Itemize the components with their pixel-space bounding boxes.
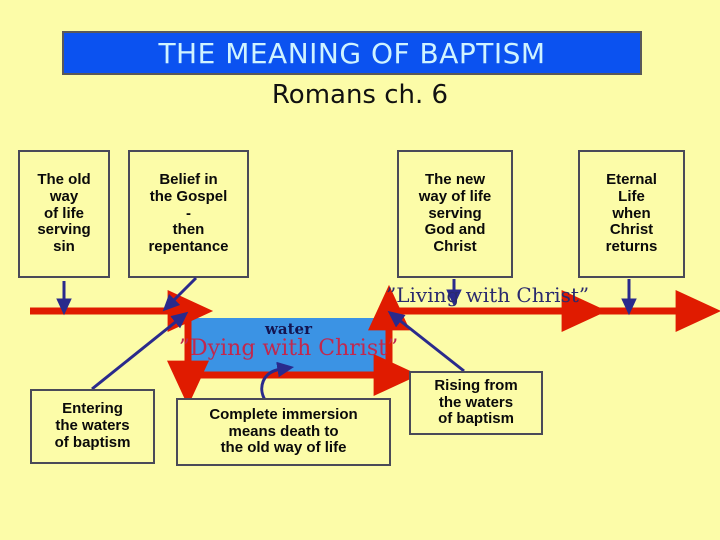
box-new-way-of-life: The new way of life serving God and Chri… [397, 150, 513, 278]
slide-canvas: THE MEANING OF BAPTISM Romans ch. 6 The … [0, 0, 720, 540]
living-with-christ-caption: ”Living with Christ” [386, 283, 589, 307]
box-entering-the-waters: Entering the waters of baptism [30, 389, 155, 464]
box-eternal-life: Eternal Life when Christ returns [578, 150, 685, 278]
box-rising-from-the-waters: Rising from the waters of baptism [409, 371, 543, 435]
box-complete-immersion: Complete immersion means death to the ol… [176, 398, 391, 466]
dying-with-christ-caption: ”Dying with Christ” [175, 336, 402, 361]
slide-subtitle: Romans ch. 6 [0, 80, 720, 110]
box-belief-in-the-gospel: Belief in the Gospel - then repentance [128, 150, 249, 278]
blue-arrow-entering-to-baptism [92, 320, 178, 389]
page-title: THE MEANING OF BAPTISM [158, 37, 545, 70]
blue-arrow-rising-to-timeline [398, 319, 464, 371]
blue-arrow-belief-to-baptism [172, 278, 196, 302]
box-old-way-of-life: The old way of life serving sin [18, 150, 110, 278]
slide-title-banner: THE MEANING OF BAPTISM [62, 31, 642, 75]
